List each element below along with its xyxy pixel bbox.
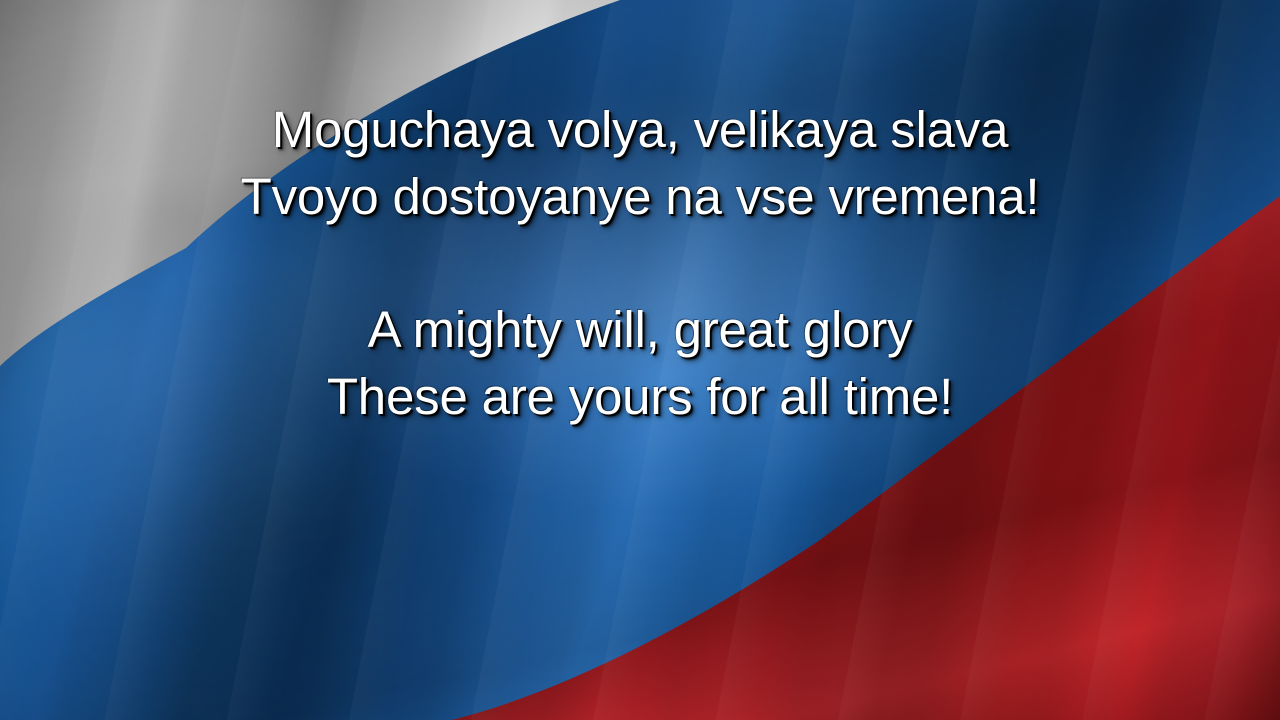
video-frame: Moguchaya volya, velikaya slava Tvoyo do…	[0, 0, 1280, 720]
